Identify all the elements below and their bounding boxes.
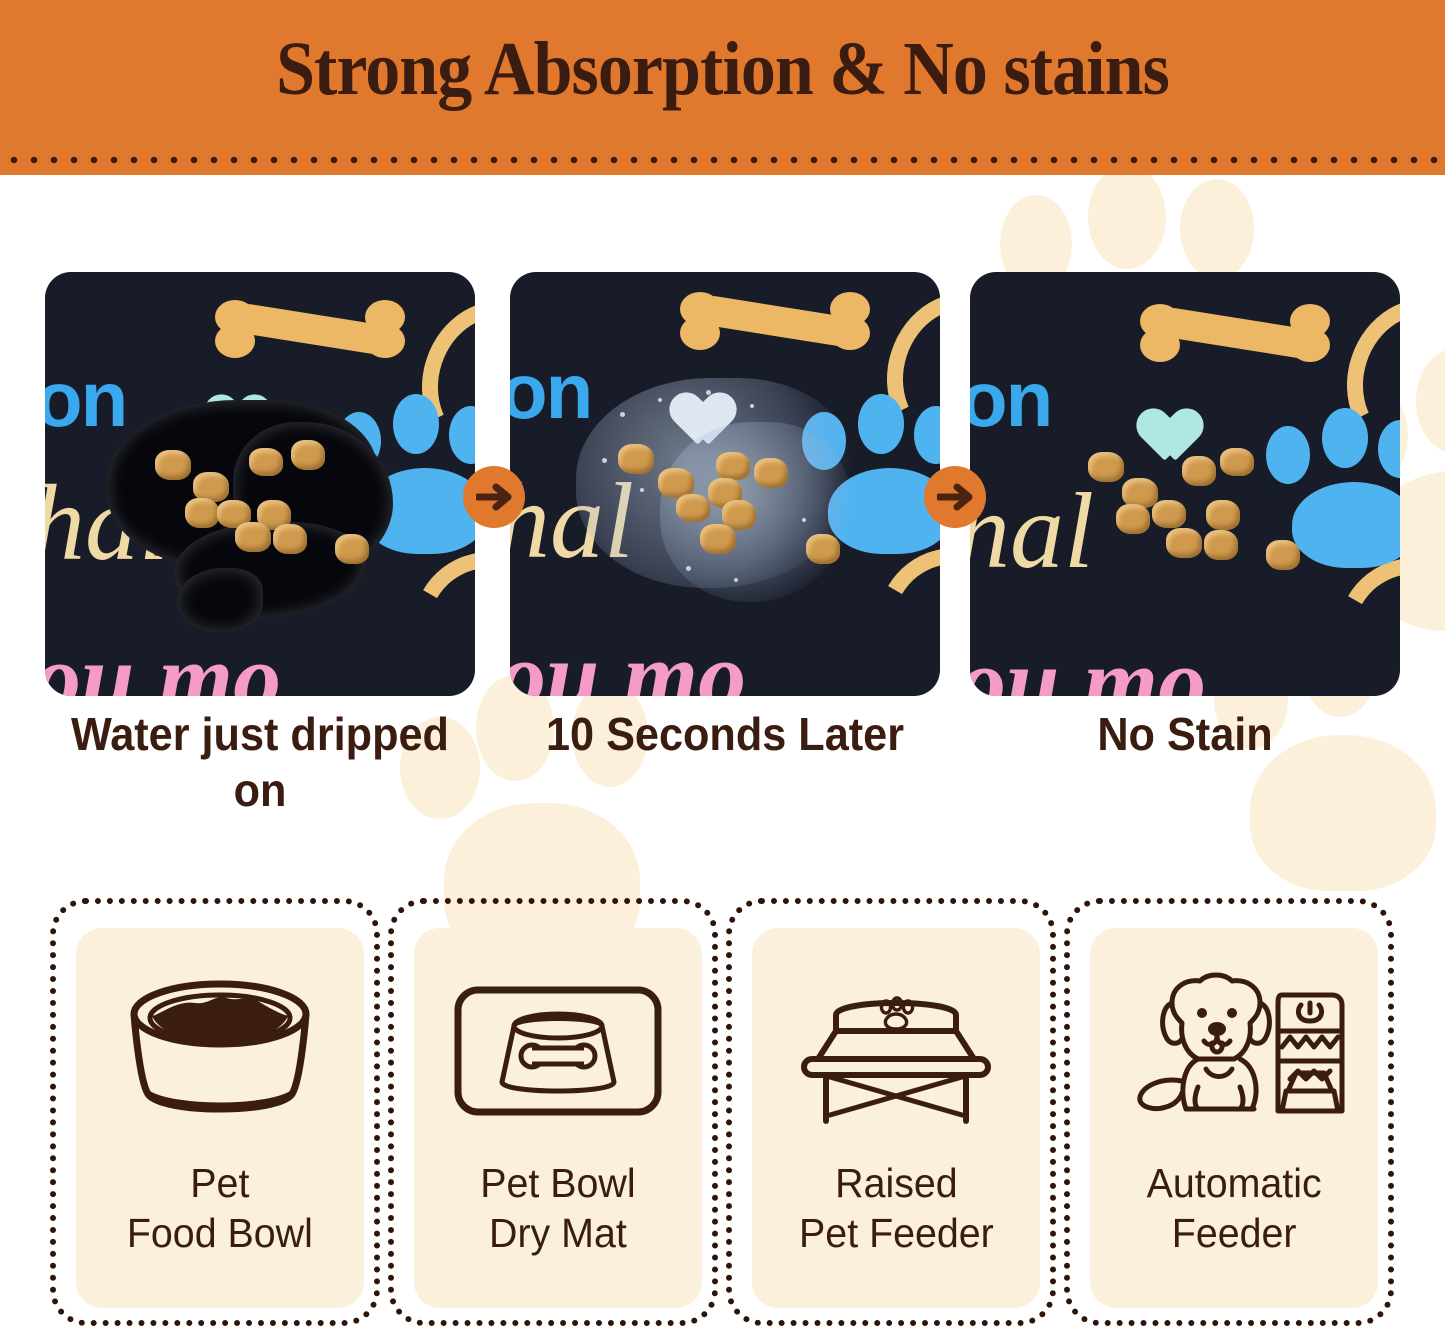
use-case-label: Pet Bowl Dry Mat [480,1158,635,1258]
card-inner-panel: Pet Food Bowl [76,928,364,1308]
sparkle-speck [602,458,607,463]
kibble-piece [335,534,369,564]
kibble-piece [676,494,710,522]
use-case-card-pet-food-bowl[interactable]: Pet Food Bowl [50,898,380,1326]
kibble-piece [1152,500,1186,528]
kibble-piece [1182,456,1216,486]
kibble-piece [1206,500,1240,530]
sparkle-speck [734,578,738,582]
sparkle-speck [686,566,691,571]
demo-caption-step-1: Water just dripped on [58,706,462,818]
card-inner-panel: Raised Pet Feeder [752,928,1040,1308]
arrow-right-icon [924,466,986,528]
pet-bowl-dry-mat-icon [452,928,664,1158]
card-inner-panel: Automatic Feeder [1090,928,1378,1308]
kibble-piece [1116,504,1150,534]
kibble-piece [1204,530,1238,560]
kibble-piece [249,448,283,476]
dotted-divider [0,154,1445,166]
kibble-piece [754,458,788,488]
card-inner-panel: Pet Bowl Dry Mat [414,928,702,1308]
kibble-piece [1088,452,1124,482]
mat-blue-text: on [970,360,1051,438]
pet-food-bowl-icon [115,928,325,1158]
tan-swoosh-graphic [861,531,940,696]
sparkle-speck [620,412,625,417]
kibble-piece [806,534,840,564]
sparkle-speck [750,404,754,408]
demo-photo-step-2: on hal ou mo [510,272,940,696]
mat-pink-text: ou mo [45,630,281,696]
sparkle-speck [640,488,644,492]
kibble-piece [185,498,219,528]
kibble-piece [155,450,191,480]
sparkle-speck [658,398,662,402]
kibble-piece [700,524,736,554]
use-case-card-automatic-feeder[interactable]: Automatic Feeder [1064,898,1394,1326]
tan-swoosh-graphic [396,535,475,696]
use-case-label: Pet Food Bowl [127,1158,313,1258]
kibble-piece [291,440,325,470]
use-case-label: Automatic Feeder [1146,1158,1321,1258]
bone-graphic [1140,304,1330,364]
header-banner: Strong Absorption & No stains [0,0,1445,175]
sparkle-speck [706,390,711,395]
demo-photo-step-3: on hal ou mo [970,272,1400,696]
use-cases-row: Pet Food Bowl Pet Bowl Dry Mat [0,898,1445,1330]
kibble-piece [716,452,750,480]
use-case-card-raised-pet-feeder[interactable]: Raised Pet Feeder [726,898,1056,1326]
mat-blue-text: on [510,352,591,430]
bone-graphic [680,292,870,352]
use-case-card-pet-bowl-dry-mat[interactable]: Pet Bowl Dry Mat [388,898,718,1326]
kibble-piece [235,522,271,552]
mat-blue-text: on [45,360,126,438]
bone-graphic [215,300,405,360]
kibble-piece [1166,528,1202,558]
demo-caption-step-3: No Stain [983,706,1387,762]
automatic-feeder-icon [1120,928,1348,1158]
absorption-demo-row: on hal ou mo [0,272,1445,696]
sparkle-speck [802,518,806,522]
demo-caption-step-2: 10 Seconds Later [523,706,927,762]
kibble-piece [1266,540,1300,570]
demo-photo-step-1: on hal ou mo [45,272,475,696]
kibble-piece [1220,448,1254,476]
arrow-right-icon [463,466,525,528]
kibble-piece [618,444,654,474]
mat-pink-text: ou mo [970,634,1206,696]
kibble-piece [273,524,307,554]
water-spill-graphic [177,568,263,632]
mat-pink-text: ou mo [510,628,746,696]
use-case-label: Raised Pet Feeder [799,1158,994,1258]
page-title: Strong Absorption & No stains [58,26,1387,113]
raised-pet-feeder-icon [790,928,1002,1158]
mat-tan-text: hal [970,478,1094,586]
